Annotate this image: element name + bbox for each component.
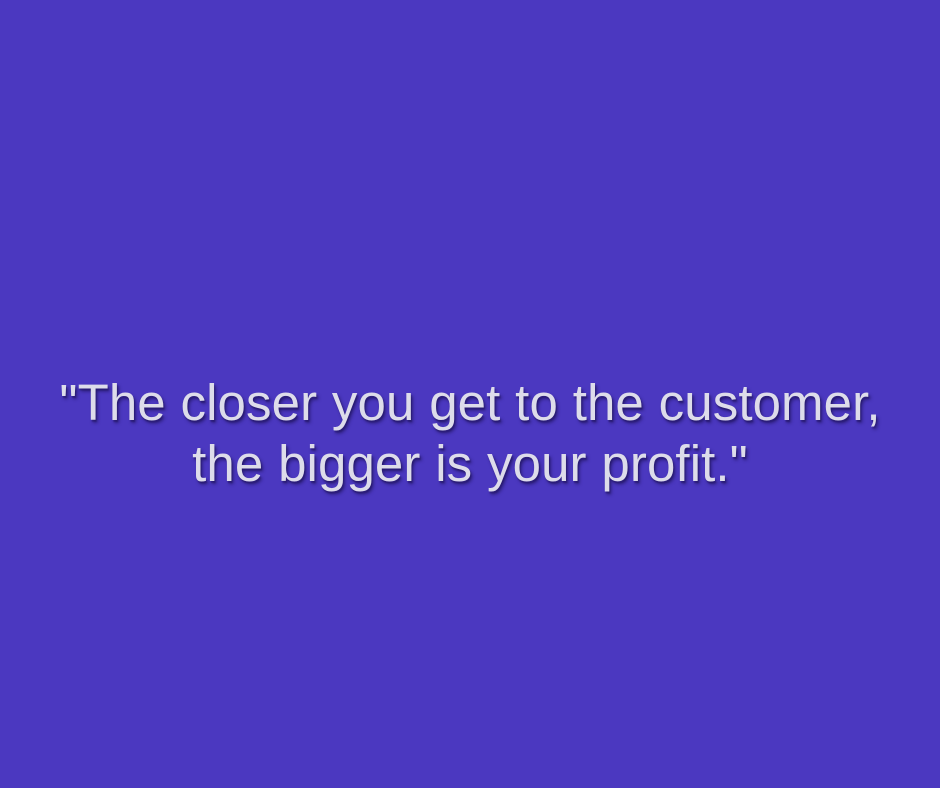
quote-card: "The closer you get to the customer, the… xyxy=(0,0,940,788)
quote-block: "The closer you get to the customer, the… xyxy=(52,372,888,494)
quote-text: "The closer you get to the customer, the… xyxy=(52,372,888,494)
